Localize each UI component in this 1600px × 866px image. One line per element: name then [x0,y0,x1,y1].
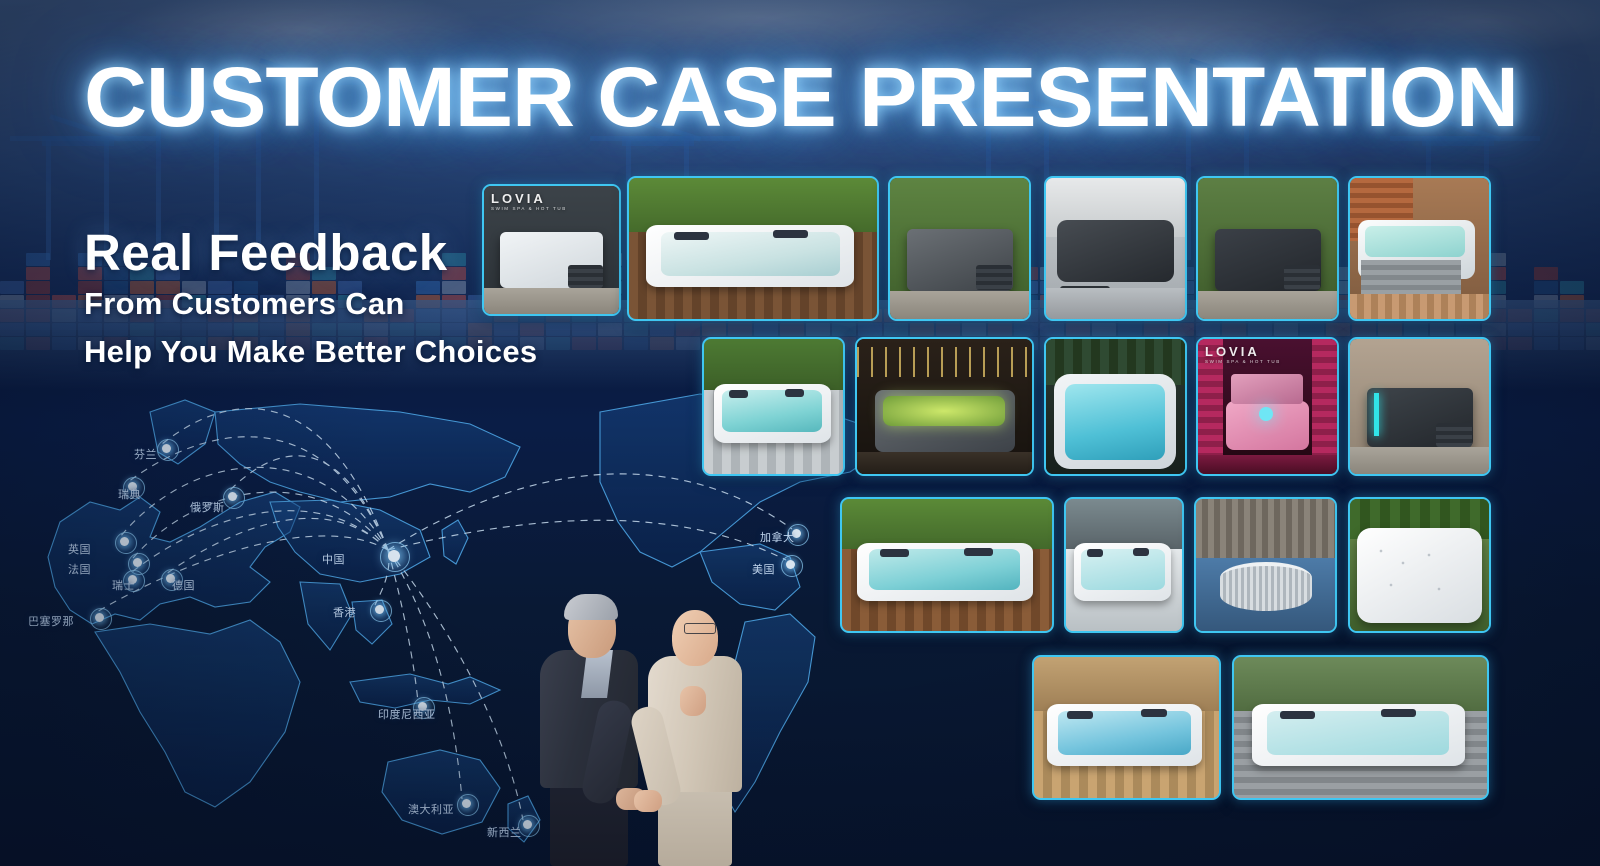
photo-paving [1350,294,1489,319]
brand-watermark-subtext: SWIM SPA & HOT TUB [1205,360,1281,365]
woman-thumbs-up-hand [680,686,706,716]
photo-headrest [1381,709,1416,717]
gallery-photo-tile[interactable] [855,337,1034,476]
gallery-photo-tile[interactable] [1348,337,1491,476]
subtitle-main: Real Feedback [84,223,448,282]
gallery-photo-tile[interactable] [627,176,879,321]
photo-ground [890,291,1029,319]
photo-headrest [1067,711,1093,719]
photo-ground [484,288,619,314]
page-title: CUSTOMER CASE PRESENTATION [84,56,1518,138]
man-hair [564,594,618,620]
photo-headrest [729,390,748,398]
gallery-photo-tile[interactable] [1044,337,1187,476]
photo-ground [1198,291,1337,319]
gallery-photo-tile[interactable] [702,337,845,476]
brand-watermark: LOVIASWIM SPA & HOT TUB [1205,345,1281,365]
gallery-photo-tile[interactable] [1348,176,1491,321]
gallery-photo-tile[interactable] [1348,497,1491,633]
photo-headrest [964,548,993,556]
gallery-photo-tile[interactable] [1194,497,1337,633]
photo-headrest [785,389,804,397]
gallery-photo-tile[interactable] [840,497,1054,633]
photo-steps [976,265,1012,290]
businesswoman-figure [632,580,760,866]
photo-fence [1196,499,1335,558]
photo-floor [1198,455,1337,474]
gallery-photo-tile[interactable] [1032,655,1221,800]
photo-string-lights [857,347,1032,377]
gallery-photo-tile[interactable] [1232,655,1489,800]
photo-led-glow [1259,407,1273,421]
gallery-photo-tile[interactable] [1064,497,1184,633]
brand-watermark-subtext: SWIM SPA & HOT TUB [491,207,567,212]
photo-headrest [674,232,709,240]
photo-steps [1284,265,1320,290]
gallery-photo-tile[interactable] [1196,176,1339,321]
subtitle-line-2: From Customers Can [84,286,405,322]
photo-cladding [1361,260,1461,297]
woman-head [672,610,718,666]
photo-floor [1046,288,1185,319]
photo-spa-cover [1231,374,1303,404]
photo-headrest [880,549,909,557]
brand-watermark-text: LOVIA [1205,344,1260,359]
photo-headrest [1280,711,1315,719]
photo-spa-water [883,396,1005,426]
gallery-photo-tile[interactable]: LOVIASWIM SPA & HOT TUB [482,184,621,316]
photo-brick-wall-right [1312,339,1337,474]
photo-jets [1369,541,1466,607]
brand-watermark: LOVIASWIM SPA & HOT TUB [491,192,567,212]
photo-round-tub [1220,562,1312,611]
woman-glasses-icon [684,623,716,634]
photo-headrest [1133,548,1149,556]
gallery-photo-tile[interactable]: LOVIASWIM SPA & HOT TUB [1196,337,1339,476]
photo-headrest [1141,709,1167,717]
photo-ground [857,452,1032,474]
handshake-illustration [520,580,770,866]
photo-led-strip [1374,393,1379,436]
gallery-photo-tile[interactable] [888,176,1031,321]
photo-steps [568,265,603,288]
brand-watermark-text: LOVIA [491,191,546,206]
photo-spa-shell [1057,220,1174,282]
subtitle-line-3: Help You Make Better Choices [84,334,537,370]
woman-hand [634,790,662,812]
photo-spa-water [1065,384,1165,460]
gallery-photo-tile[interactable] [1044,176,1187,321]
photo-spa-water [1365,226,1465,257]
photo-ground [1350,447,1489,474]
photo-headrest [773,230,808,238]
customer-case-banner: 芬兰瑞典俄罗斯英国法国瑞士德国巴塞罗那中国香港加拿大美国印度尼西亚澳大利亚新西兰… [0,0,1600,866]
photo-steps [1436,423,1472,447]
photo-headrest [1087,549,1103,557]
